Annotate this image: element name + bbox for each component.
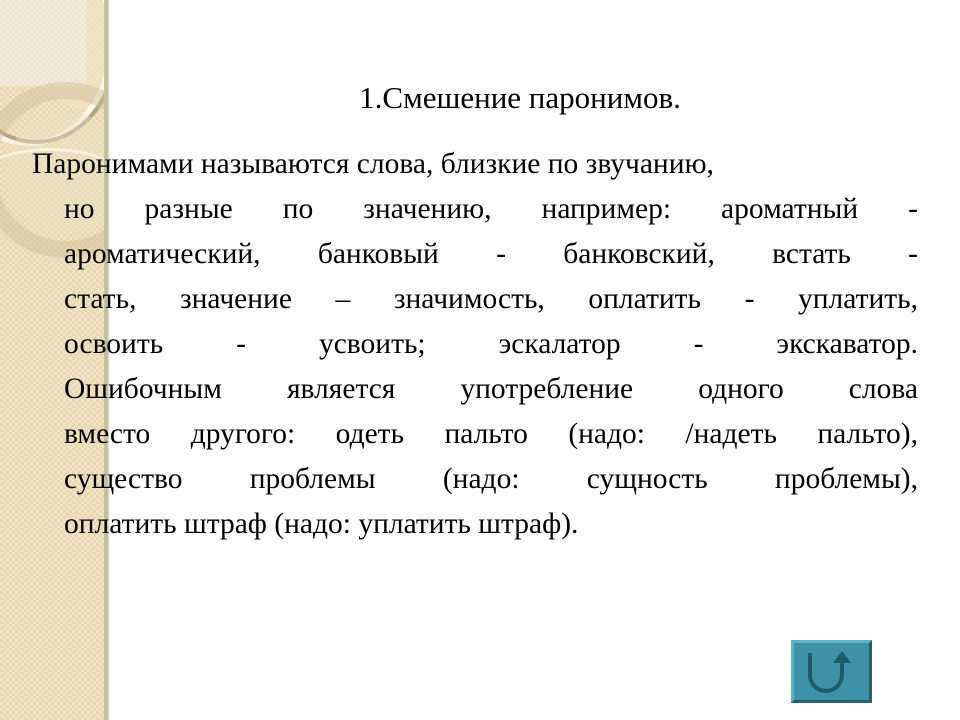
body-line: существо проблемы (надо: сущность пробле… (32, 457, 918, 502)
body-line: Паронимами называются слова, близкие по … (32, 142, 918, 187)
slide-title: 1.Смешение паронимов. (110, 78, 930, 118)
slide-body: Паронимами называются слова, близкие по … (32, 142, 918, 547)
body-line: Ошибочным является употребление одного с… (32, 367, 918, 412)
body-line: но разные по значению, например: ароматн… (32, 187, 918, 232)
body-paragraph: Паронимами называются слова, близкие по … (32, 142, 918, 547)
body-line: освоить - усвоить; эскалатор - экскавато… (32, 322, 918, 367)
return-button[interactable] (791, 640, 872, 703)
body-line: оплатить штраф (надо: уплатить штраф). (32, 502, 918, 547)
slide-canvas: 1.Смешение паронимов. Паронимами называю… (0, 0, 960, 720)
u-turn-arrow-icon (806, 649, 858, 695)
body-line: ароматический, банковый - банковский, вс… (32, 232, 918, 277)
body-line: вместо другого: одеть пальто (надо: /над… (32, 412, 918, 457)
body-line: стать, значение – значимость, оплатить -… (32, 277, 918, 322)
